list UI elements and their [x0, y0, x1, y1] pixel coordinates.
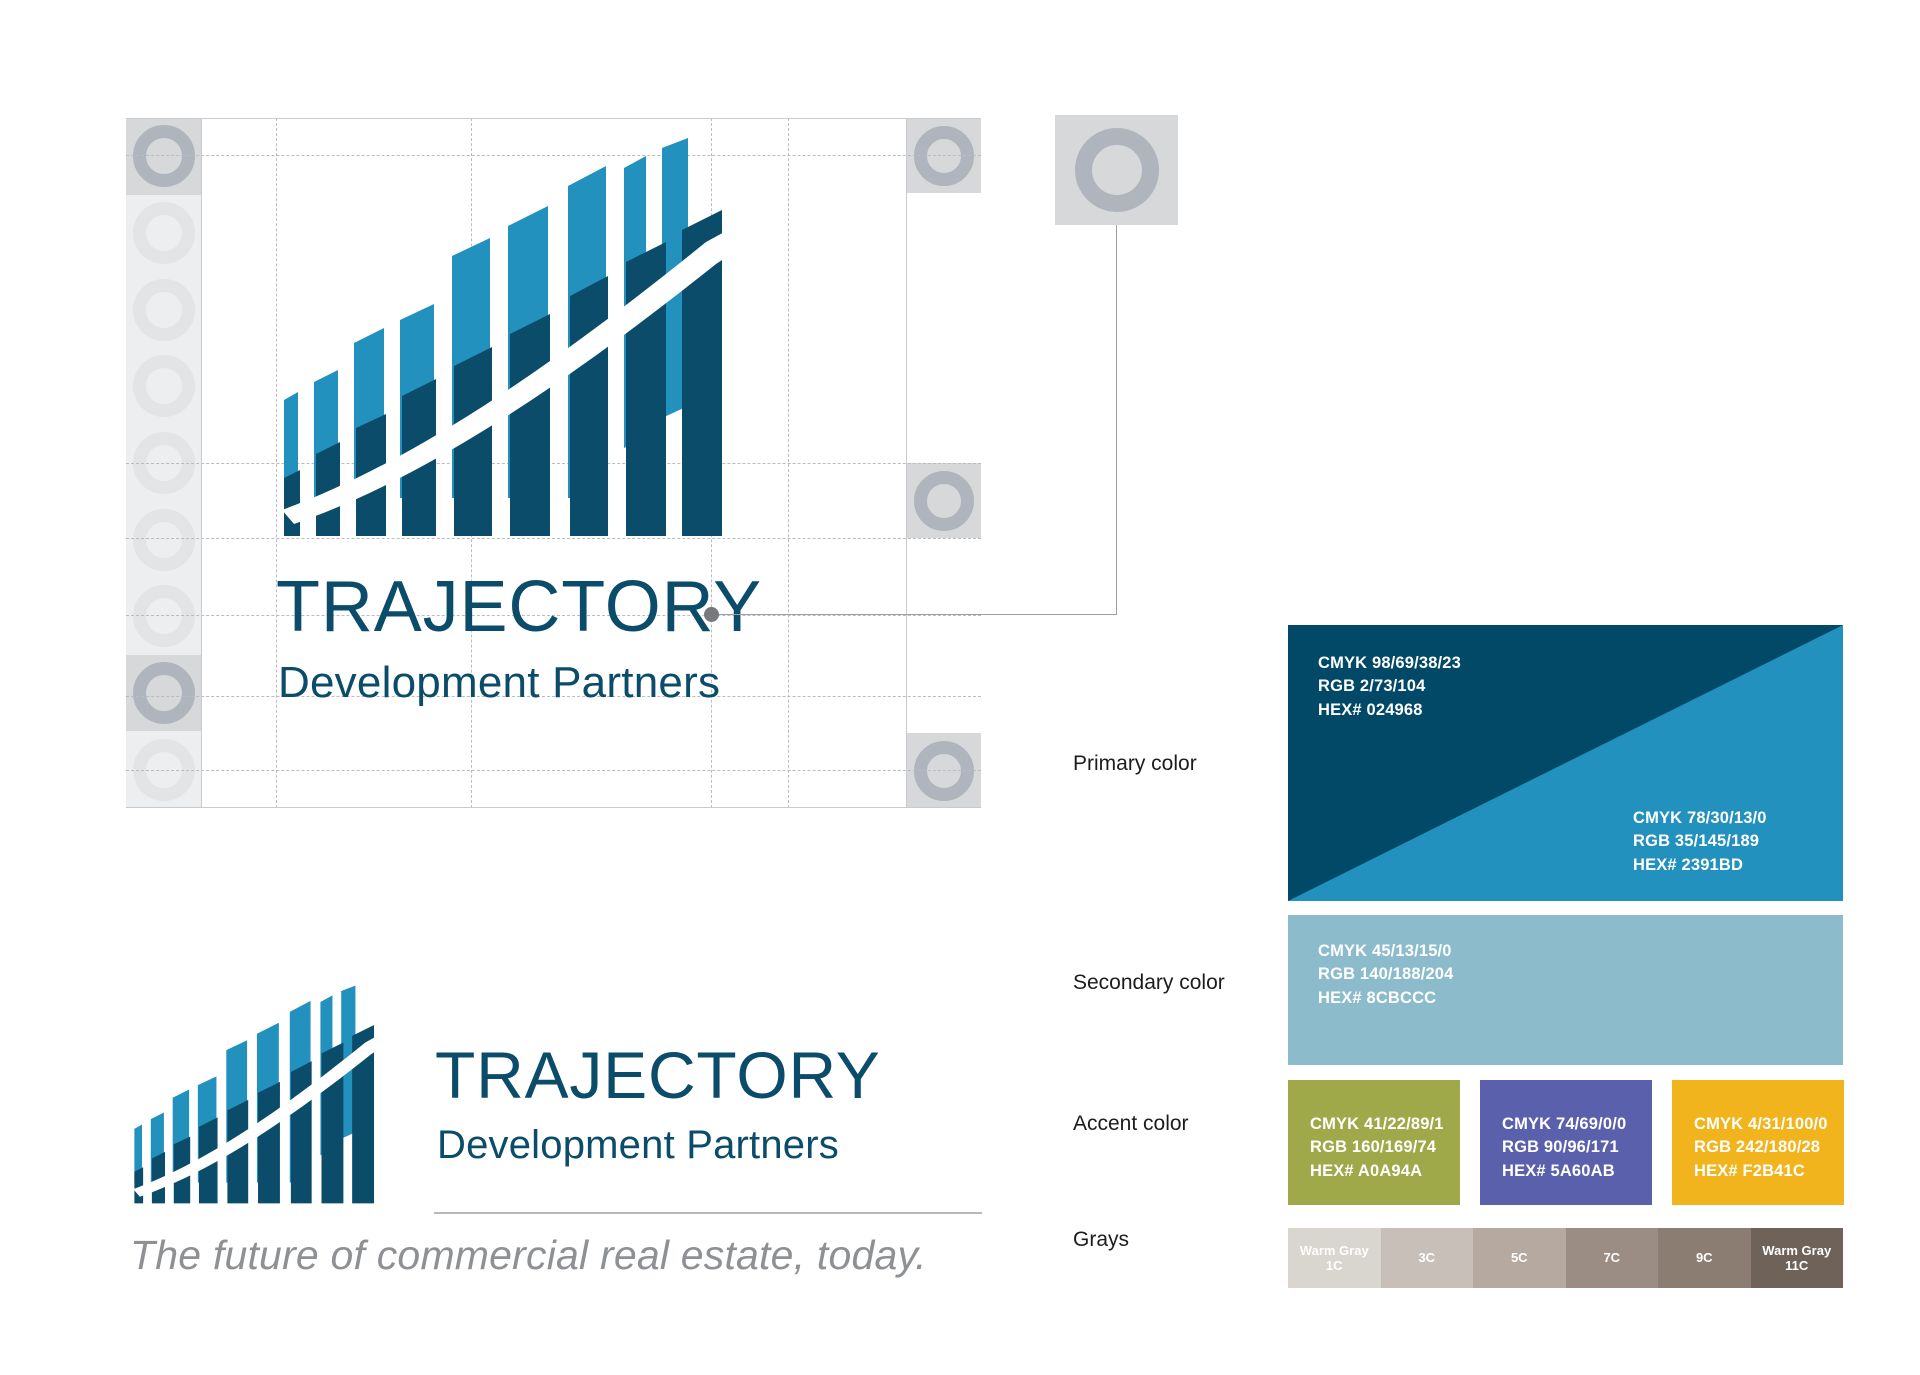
- hex-value: HEX# 5A60AB: [1502, 1160, 1626, 1183]
- primary-color-swatch: CMYK 98/69/38/23 RGB 2/73/104 HEX# 02496…: [1288, 625, 1843, 901]
- gray-step: 5C: [1511, 1250, 1528, 1265]
- clear-space-ring-corner-top-right: [906, 118, 981, 193]
- clear-space-ring-corner-bottom-right: [906, 733, 981, 808]
- callout-leader-line-horizontal: [712, 614, 1117, 615]
- lockup-divider: [434, 1212, 982, 1214]
- wordmark-primary: TRAJECTORY: [435, 1037, 881, 1113]
- cmyk-value: CMYK 41/22/89/1: [1310, 1113, 1444, 1136]
- accent-color-swatch: CMYK 74/69/0/0 RGB 90/96/171 HEX# 5A60AB: [1480, 1080, 1652, 1205]
- wordmark-descriptor: Development Partners: [437, 1123, 839, 1168]
- primary-light-values: CMYK 78/30/13/0 RGB 35/145/189 HEX# 2391…: [1633, 807, 1767, 877]
- clear-space-ring-corner-middle-right: [906, 463, 981, 538]
- accent-values: CMYK 4/31/100/0 RGB 242/180/28 HEX# F2B4…: [1694, 1113, 1828, 1183]
- cmyk-value: CMYK 74/69/0/0: [1502, 1113, 1626, 1136]
- secondary-values: CMYK 45/13/15/0 RGB 140/188/204 HEX# 8CB…: [1318, 940, 1453, 1010]
- gray-step: 7C: [1603, 1250, 1620, 1265]
- primary-dark-values: CMYK 98/69/38/23 RGB 2/73/104 HEX# 02496…: [1318, 652, 1461, 722]
- callout-anchor-dot: [704, 607, 719, 622]
- gray-name: Warm Gray: [1762, 1243, 1831, 1258]
- cmyk-value: CMYK 98/69/38/23: [1318, 652, 1461, 675]
- hex-value: HEX# 024968: [1318, 699, 1461, 722]
- rgb-value: RGB 242/180/28: [1694, 1136, 1828, 1159]
- clear-space-ring: [126, 195, 201, 272]
- rgb-value: RGB 160/169/74: [1310, 1136, 1444, 1159]
- gray-step: 3C: [1418, 1250, 1435, 1265]
- clear-space-ring-column: [126, 118, 201, 808]
- logo-lockup: TRAJECTORY Development Partners: [130, 975, 990, 1275]
- clear-space-ring: [126, 118, 201, 195]
- clear-space-ring: [126, 501, 201, 578]
- gray-swatch: 7C: [1566, 1228, 1659, 1288]
- gray-name: Warm Gray: [1300, 1243, 1369, 1258]
- trajectory-bar-mark: [276, 138, 806, 538]
- rgb-value: RGB 90/96/171: [1502, 1136, 1626, 1159]
- cmyk-value: CMYK 4/31/100/0: [1694, 1113, 1828, 1136]
- gray-swatch: 9C: [1658, 1228, 1751, 1288]
- trajectory-bar-mark: [130, 975, 420, 1215]
- rgb-value: RGB 35/145/189: [1633, 830, 1767, 853]
- rgb-value: RGB 2/73/104: [1318, 675, 1461, 698]
- gray-step: 9C: [1696, 1250, 1713, 1265]
- label-accent-color: Accent color: [1073, 1112, 1189, 1136]
- clear-space-ring: [126, 425, 201, 502]
- hex-value: HEX# F2B41C: [1694, 1160, 1828, 1183]
- gray-scale-row: Warm Gray1C 3C 5C 7C 9C Warm Gray11C: [1288, 1228, 1843, 1288]
- label-secondary-color: Secondary color: [1073, 971, 1225, 995]
- cmyk-value: CMYK 45/13/15/0: [1318, 940, 1453, 963]
- gray-swatch: Warm Gray1C: [1288, 1228, 1381, 1288]
- hex-value: HEX# A0A94A: [1310, 1160, 1444, 1183]
- label-primary-color: Primary color: [1073, 752, 1197, 776]
- clear-space-ring: [126, 578, 201, 655]
- clear-space-ring: [126, 731, 201, 808]
- wordmark-descriptor: Development Partners: [278, 658, 720, 708]
- clear-space-ring: [126, 348, 201, 425]
- tagline: The future of commercial real estate, to…: [130, 1232, 990, 1279]
- gray-step: 11C: [1762, 1258, 1831, 1273]
- hex-value: HEX# 2391BD: [1633, 854, 1767, 877]
- clear-space-ring: [126, 271, 201, 348]
- wordmark-primary: TRAJECTORY: [276, 566, 762, 648]
- hex-value: HEX# 8CBCCC: [1318, 987, 1453, 1010]
- gray-swatch: 5C: [1473, 1228, 1566, 1288]
- logo-construction-grid: TRAJECTORY Development Partners: [126, 118, 981, 808]
- gray-swatch: Warm Gray11C: [1751, 1228, 1844, 1288]
- cmyk-value: CMYK 78/30/13/0: [1633, 807, 1767, 830]
- secondary-color-swatch: CMYK 45/13/15/0 RGB 140/188/204 HEX# 8CB…: [1288, 915, 1843, 1065]
- rgb-value: RGB 140/188/204: [1318, 963, 1453, 986]
- accent-color-swatch: CMYK 4/31/100/0 RGB 242/180/28 HEX# F2B4…: [1672, 1080, 1844, 1205]
- clear-space-ring: [126, 655, 201, 732]
- callout-leader-line-vertical: [1116, 225, 1117, 615]
- label-grays: Grays: [1073, 1228, 1129, 1252]
- gray-step: 1C: [1300, 1258, 1369, 1273]
- accent-values: CMYK 74/69/0/0 RGB 90/96/171 HEX# 5A60AB: [1502, 1113, 1626, 1183]
- accent-values: CMYK 41/22/89/1 RGB 160/169/74 HEX# A0A9…: [1310, 1113, 1444, 1183]
- gray-swatch: 3C: [1381, 1228, 1474, 1288]
- accent-color-swatch: CMYK 41/22/89/1 RGB 160/169/74 HEX# A0A9…: [1288, 1080, 1460, 1205]
- ring-module-icon: [1055, 115, 1178, 225]
